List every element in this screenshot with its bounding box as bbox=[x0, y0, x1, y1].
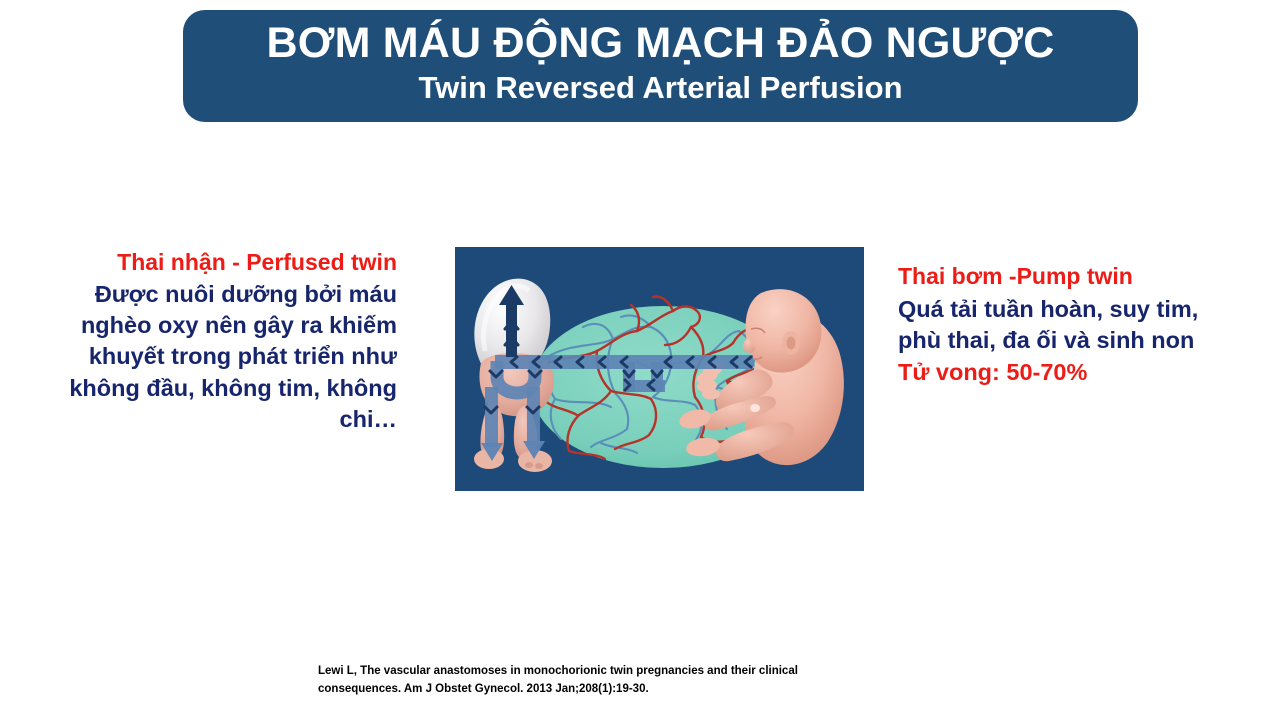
title-subtitle: Twin Reversed Arterial Perfusion bbox=[418, 71, 902, 105]
citation-line-1: Lewi L, The vascular anastomoses in mono… bbox=[318, 663, 958, 681]
pump-twin-mortality: Tử vong: 50-70% bbox=[898, 357, 1228, 388]
title-main: BƠM MÁU ĐỘNG MẠCH ĐẢO NGƯỢC bbox=[266, 21, 1054, 67]
pump-twin-text-block: Thai bơm -Pump twin Quá tải tuần hoàn, s… bbox=[898, 262, 1228, 389]
perfused-twin-text-block: Thai nhận - Perfused twin Được nuôi dưỡn… bbox=[35, 248, 397, 435]
pump-twin-heading: Thai bơm -Pump twin bbox=[898, 262, 1228, 292]
title-banner: BƠM MÁU ĐỘNG MẠCH ĐẢO NGƯỢC Twin Reverse… bbox=[183, 10, 1138, 122]
flow-band-leg-right bbox=[527, 387, 540, 445]
citation-line-2: consequences. Am J Obstet Gynecol. 2013 … bbox=[318, 681, 958, 699]
citation: Lewi L, The vascular anastomoses in mono… bbox=[318, 663, 958, 699]
perfused-twin-body: Được nuôi dưỡng bởi máu nghèo oxy nên gâ… bbox=[35, 279, 397, 435]
pump-twin-body: Quá tải tuần hoàn, suy tim, phù thai, đa… bbox=[898, 294, 1228, 357]
perfused-twin-heading: Thai nhận - Perfused twin bbox=[35, 248, 397, 278]
flow-band-leg-left bbox=[485, 387, 498, 447]
twin-reversed-arterial-perfusion-illustration bbox=[455, 247, 864, 491]
